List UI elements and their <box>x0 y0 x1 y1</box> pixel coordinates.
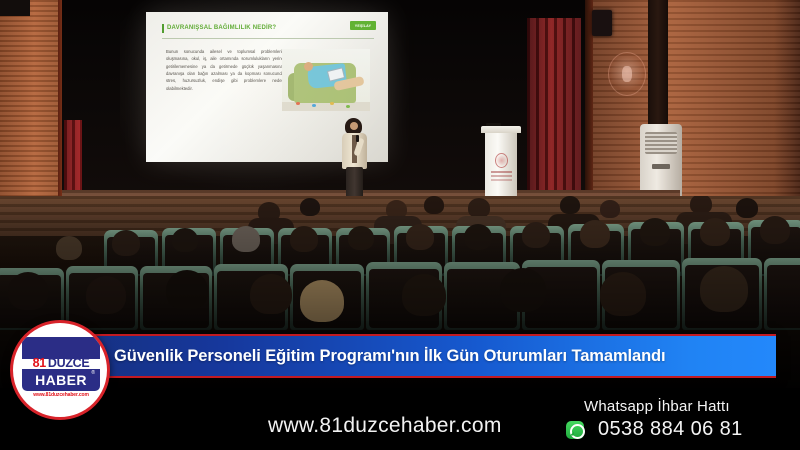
ac-label <box>652 164 670 169</box>
audience-head <box>56 236 82 260</box>
wall-speaker <box>592 10 612 36</box>
audience-head <box>700 266 748 312</box>
audience-head <box>560 196 580 214</box>
slide-title-bar-icon <box>162 24 164 33</box>
logo-word-haber: HABER <box>22 370 100 390</box>
presenter-face <box>350 122 358 130</box>
whatsapp-icon[interactable] <box>566 421 584 439</box>
audience-head <box>250 274 292 314</box>
whatsapp-number[interactable]: 0538 884 06 81 <box>598 418 743 441</box>
audience-head <box>760 216 790 244</box>
audience-head <box>406 224 434 250</box>
podium-body <box>485 133 517 204</box>
site-logo-inner: 81 DÜZCE HABER ® www.81duzcehaber.com <box>22 337 100 405</box>
illustration-dot <box>296 102 300 105</box>
audience-head <box>8 272 48 310</box>
slide-illustration <box>282 49 370 111</box>
audience-head <box>172 228 198 252</box>
audience-head <box>640 218 670 246</box>
yesilay-logo-icon: YEŞİLAY <box>350 21 376 30</box>
audience-head <box>166 270 208 310</box>
illustration-person-head <box>304 62 313 71</box>
screenshot-root: DAVRANIŞSAL BAĞIMLILIK NEDİR? YEŞİLAY Bu… <box>0 0 800 450</box>
podium-top <box>481 126 521 133</box>
podium <box>483 126 519 204</box>
audience-head <box>736 198 758 218</box>
audience-head <box>86 276 126 314</box>
audience-head <box>348 226 374 250</box>
illustration-dot <box>312 104 316 107</box>
audience-head <box>700 218 730 246</box>
audience-head <box>402 274 446 316</box>
slide-title: DAVRANIŞSAL BAĞIMLILIK NEDİR? <box>167 25 276 31</box>
seat <box>764 258 800 330</box>
headline-text: Güvenlik Personeli Eğitim Programı'nın İ… <box>114 347 666 366</box>
ac-vent <box>645 132 677 154</box>
podium-emblem-icon <box>495 153 508 168</box>
audience-head <box>600 200 620 218</box>
audience-head <box>300 198 320 216</box>
audience-head <box>464 224 492 250</box>
red-curtain-right <box>527 18 581 208</box>
audience-head <box>424 196 444 214</box>
wall-emblem-icon <box>608 52 646 96</box>
illustration-dot <box>330 102 334 105</box>
slide-body-text: Bunun sonucunda ailesel ve toplumsal pro… <box>166 48 284 92</box>
slide-logo-label: YEŞİLAY <box>355 24 371 28</box>
audience-head <box>600 272 646 316</box>
audience-head <box>112 230 140 256</box>
illustration-dot <box>346 105 350 108</box>
headline-banner: Güvenlik Personeli Eğitim Programı'nın İ… <box>58 334 776 378</box>
registered-mark-icon: ® <box>91 370 95 376</box>
left-wall-top-shadow <box>0 0 30 16</box>
whatsapp-block: Whatsapp İhbar Hattı 0538 884 06 81 <box>566 398 796 441</box>
audience-head-blonde <box>300 280 344 322</box>
podium-text-lines <box>491 171 512 173</box>
site-logo[interactable]: 81 DÜZCE HABER ® www.81duzcehaber.com <box>10 320 110 420</box>
slide-divider <box>162 38 374 39</box>
logo-url: www.81duzcehaber.com <box>22 392 100 398</box>
audience-head <box>522 222 550 248</box>
logo-word-duzce: DÜZCE <box>48 356 90 370</box>
whatsapp-title: Whatsapp İhbar Hattı <box>584 398 796 415</box>
audience-head <box>468 198 490 218</box>
audience-head <box>500 268 546 312</box>
whatsapp-row[interactable]: 0538 884 06 81 <box>566 418 796 441</box>
site-url[interactable]: www.81duzcehaber.com <box>268 414 502 438</box>
slide-title-row: DAVRANIŞSAL BAĞIMLILIK NEDİR? <box>162 22 374 34</box>
audience-head <box>232 226 260 252</box>
logo-number: 81 <box>33 356 46 370</box>
audience-head <box>290 226 318 252</box>
audience-head <box>580 220 610 248</box>
microphone-icon <box>356 135 359 142</box>
